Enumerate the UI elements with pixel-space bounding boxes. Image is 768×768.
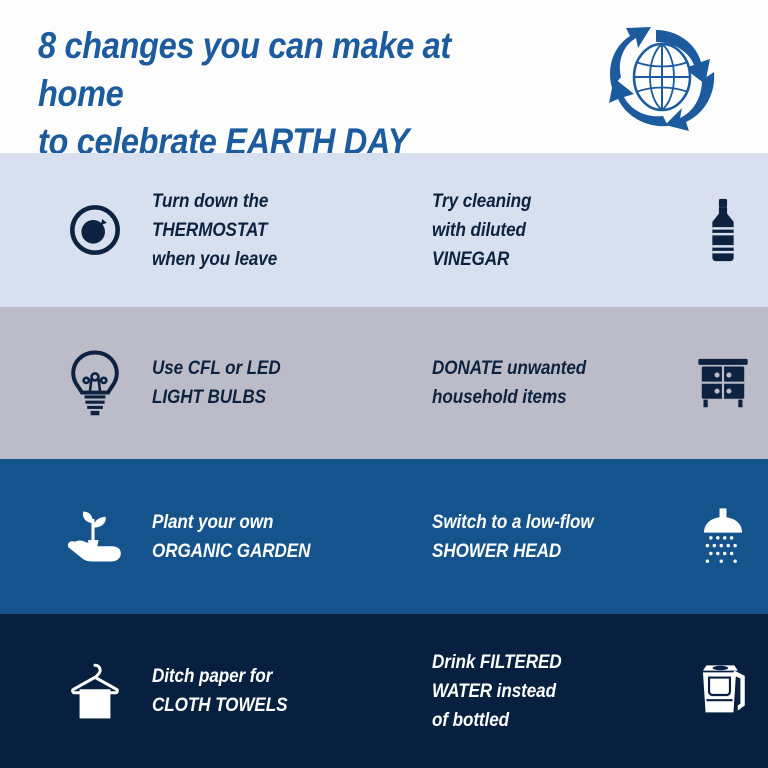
tip-shower-head: Switch to a low-flow SHOWER HEAD — [384, 459, 768, 614]
tip-filtered-water: Drink FILTERED WATER instead of bottled — [384, 614, 768, 768]
shower-head-icon — [686, 496, 760, 578]
tip-label: Turn down the THERMOSTAT when you leave — [152, 187, 361, 274]
tip-label: Ditch paper for CLOTH TOWELS — [152, 662, 361, 720]
tip-thermostat: Turn down the THERMOSTAT when you leave — [0, 153, 384, 307]
tip-label: DONATE unwanted household items — [432, 354, 648, 412]
globe-recycling-icon — [596, 22, 728, 134]
header: 8 changes you can make at home to celebr… — [0, 0, 768, 153]
hanger-towel-icon — [58, 650, 132, 732]
tip-label: Plant your own ORGANIC GARDEN — [152, 508, 361, 566]
tip-label: Drink FILTERED WATER instead of bottled — [432, 648, 648, 735]
tip-donate: DONATE unwanted household items — [384, 307, 768, 459]
tip-light-bulbs: Use CFL or LED LIGHT BULBS — [0, 307, 384, 459]
tips-row-2: Use CFL or LED LIGHT BULBS DONATE unwant… — [0, 307, 768, 459]
infographic-page: 8 changes you can make at home to celebr… — [0, 0, 768, 768]
vinegar-bottle-icon — [686, 189, 760, 271]
tip-vinegar: Try cleaning with diluted VINEGAR — [384, 153, 768, 307]
dresser-icon — [686, 342, 760, 424]
hand-sprout-icon — [58, 496, 132, 578]
page-title: 8 changes you can make at home to celebr… — [38, 22, 531, 166]
water-filter-pitcher-icon — [686, 650, 760, 732]
tip-label: Use CFL or LED LIGHT BULBS — [152, 354, 361, 412]
tip-label: Switch to a low-flow SHOWER HEAD — [432, 508, 648, 566]
tips-row-4: Ditch paper for CLOTH TOWELS Drink FILTE… — [0, 614, 768, 768]
tips-row-3: Plant your own ORGANIC GARDEN Switch to … — [0, 459, 768, 614]
thermostat-dial-icon — [58, 189, 132, 271]
tip-cloth-towels: Ditch paper for CLOTH TOWELS — [0, 614, 384, 768]
light-bulb-icon — [58, 342, 132, 424]
tips-row-1: Turn down the THERMOSTAT when you leave … — [0, 153, 768, 307]
tip-organic-garden: Plant your own ORGANIC GARDEN — [0, 459, 384, 614]
tip-label: Try cleaning with diluted VINEGAR — [432, 187, 648, 274]
